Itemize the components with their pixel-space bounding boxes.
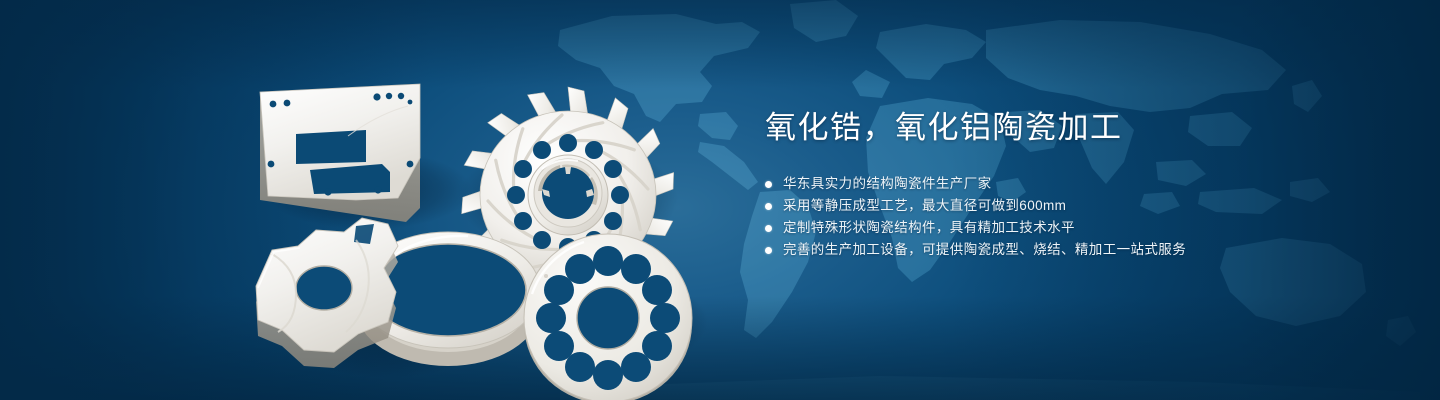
- part-ceramic-plate: [260, 84, 420, 222]
- list-item: 定制特殊形状陶瓷结构件，具有精加工技术水平: [765, 217, 1385, 239]
- list-item: 完善的生产加工设备，可提供陶瓷成型、烧结、精加工一站式服务: [765, 239, 1385, 261]
- list-item: 华东具实力的结构陶瓷件生产厂家: [765, 173, 1385, 195]
- bullet-dot-icon: [765, 247, 772, 254]
- bullet-dot-icon: [765, 181, 772, 188]
- list-item-label: 定制特殊形状陶瓷结构件，具有精加工技术水平: [783, 217, 1075, 239]
- ceramic-parts-image: [238, 40, 708, 385]
- bullet-dot-icon: [765, 203, 772, 210]
- part-ceramic-hole-disc: [524, 234, 692, 400]
- list-item: 采用等静压成型工艺，最大直径可做到600mm: [765, 195, 1385, 217]
- list-item-label: 完善的生产加工设备，可提供陶瓷成型、烧结、精加工一站式服务: [783, 239, 1186, 261]
- page-title: 氧化锆，氧化铝陶瓷加工: [765, 108, 1385, 148]
- bullet-dot-icon: [765, 225, 772, 232]
- list-item-label: 采用等静压成型工艺，最大直径可做到600mm: [783, 195, 1066, 217]
- hero-banner: 氧化锆，氧化铝陶瓷加工 华东具实力的结构陶瓷件生产厂家 采用等静压成型工艺，最大…: [0, 0, 1440, 400]
- banner-copy: 氧化锆，氧化铝陶瓷加工 华东具实力的结构陶瓷件生产厂家 采用等静压成型工艺，最大…: [765, 108, 1385, 261]
- list-item-label: 华东具实力的结构陶瓷件生产厂家: [783, 173, 992, 195]
- feature-list: 华东具实力的结构陶瓷件生产厂家 采用等静压成型工艺，最大直径可做到600mm 定…: [765, 173, 1385, 261]
